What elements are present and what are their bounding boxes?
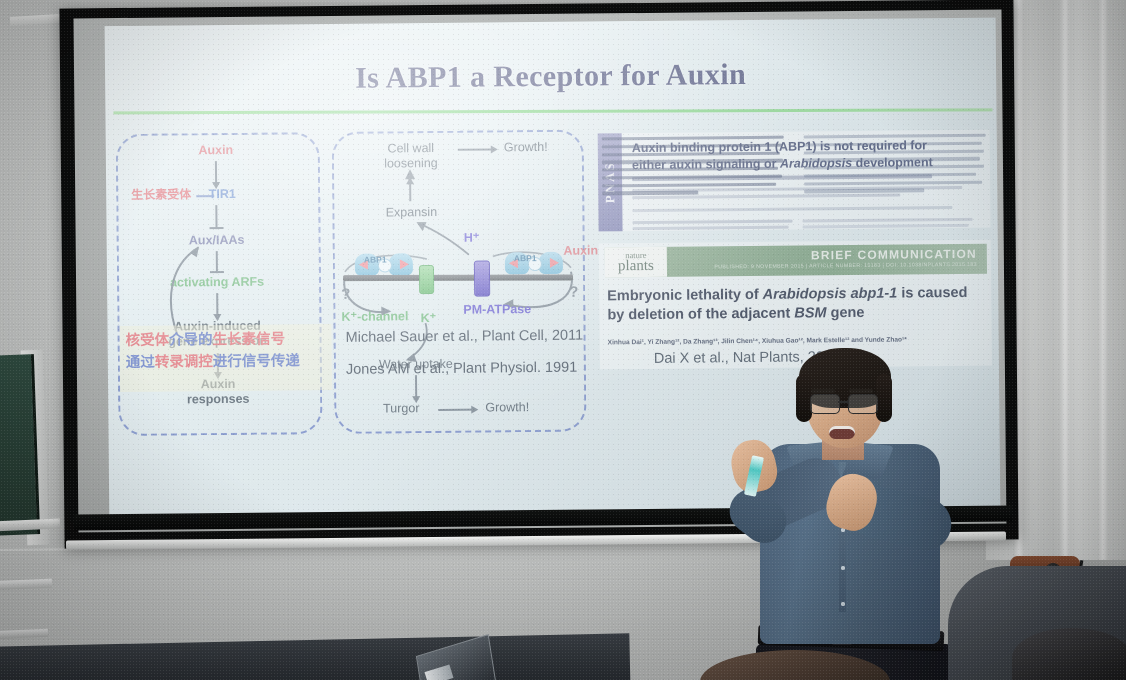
eyeglasses-left-lens [810,394,840,414]
presenter-brow-right [849,389,873,393]
chalkboard [0,354,40,536]
presenter-brow-left [811,389,835,393]
presenter-mouth [829,426,855,439]
eyeglasses-right-lens [848,394,878,414]
presenter-hair-right [876,374,892,422]
audience-head-right [1012,628,1126,680]
eyeglasses-bridge [838,401,848,403]
lecture-photo: Is ABP1 a Receptor for Auxin Auxin 生长素受体… [0,0,1126,680]
